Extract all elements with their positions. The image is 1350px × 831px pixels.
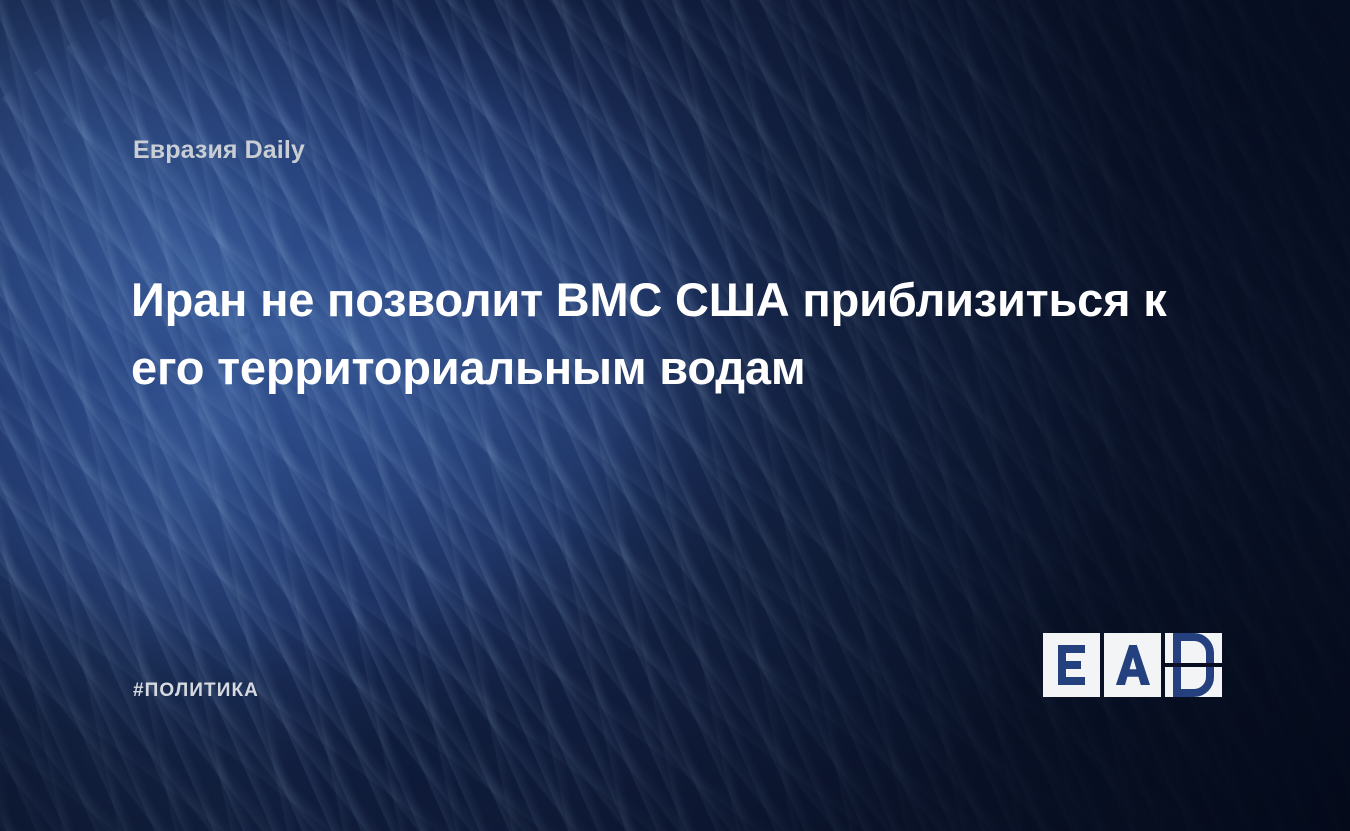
logo-tile-d-top	[1165, 633, 1222, 663]
card-content: Евразия Daily Иран не позволит ВМС США п…	[0, 0, 1350, 831]
headline[interactable]: Иран не позволит ВМС США приблизиться к …	[131, 266, 1196, 402]
site-name[interactable]: Евразия Daily	[133, 136, 305, 165]
logo-tile-d-bottom	[1165, 667, 1222, 697]
logo-tile-a	[1104, 633, 1161, 697]
eadaily-logo[interactable]	[1043, 633, 1222, 697]
news-card: Евразия Daily Иран не позволит ВМС США п…	[0, 0, 1350, 831]
category-tag[interactable]: #ПОЛИТИКА	[133, 680, 259, 702]
logo-tile-e	[1043, 633, 1100, 697]
logo-tile-d	[1165, 633, 1222, 697]
